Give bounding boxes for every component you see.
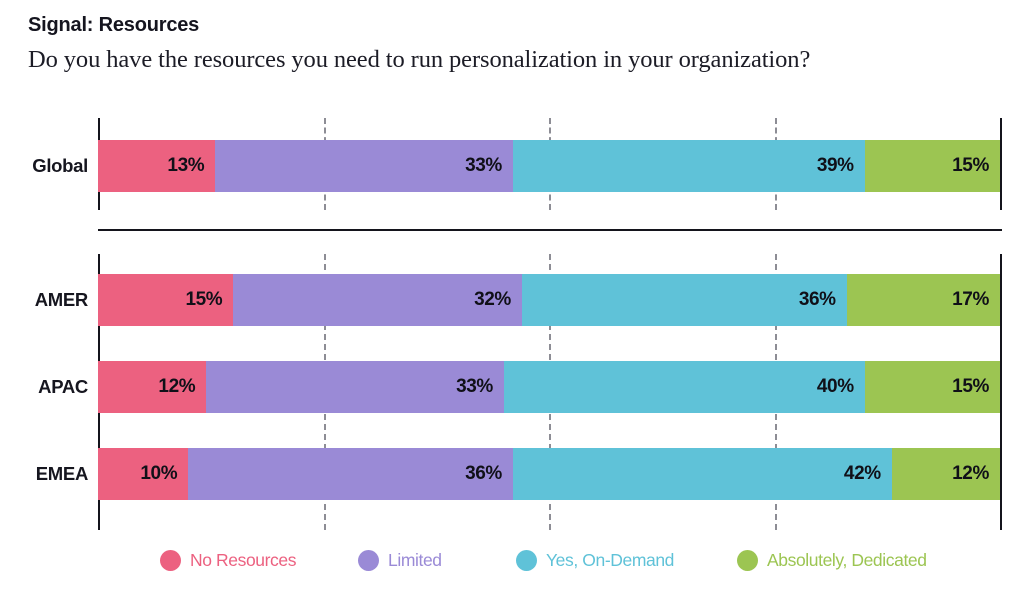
bar-value-label: 33% [465,155,502,177]
bar-segment[interactable]: 36% [522,274,847,326]
bar-row-apac: APAC12%33%40%15% [0,361,1024,413]
bar-segment[interactable]: 32% [233,274,522,326]
bar-value-label: 33% [456,376,493,398]
category-label-apac: APAC [0,376,88,398]
group-separator [98,229,1002,231]
bar-segment[interactable]: 10% [98,448,188,500]
bar-segment[interactable]: 42% [513,448,892,500]
legend-item[interactable]: Limited [358,550,442,571]
bar-value-label: 13% [167,155,204,177]
legend-label: Limited [388,550,442,571]
category-label-amer: AMER [0,289,88,311]
bar-segment[interactable]: 33% [215,140,513,192]
category-label-global: Global [0,155,88,177]
legend-label: Yes, On-Demand [546,550,674,571]
legend-item[interactable]: Yes, On-Demand [516,550,674,571]
legend-swatch-icon [516,550,537,571]
legend-swatch-icon [358,550,379,571]
bar-segment[interactable]: 33% [206,361,504,413]
bar-segment[interactable]: 40% [504,361,865,413]
bar-row-global: Global13%33%39%15% [0,140,1024,192]
legend-item[interactable]: No Resources [160,550,296,571]
stacked-bar-chart: Global13%33%39%15%AMER15%32%36%17%APAC12… [0,0,1024,595]
bar-value-label: 15% [952,155,989,177]
bar-value-label: 10% [140,463,177,485]
legend-item[interactable]: Absolutely, Dedicated [737,550,927,571]
bar-segment[interactable]: 15% [98,274,233,326]
bar-segment[interactable]: 13% [98,140,215,192]
bar-value-label: 32% [474,289,511,311]
bar-segment[interactable]: 36% [188,448,513,500]
bar-value-label: 36% [465,463,502,485]
stacked-bar: 12%33%40%15% [98,361,1000,413]
bar-value-label: 42% [844,463,881,485]
stacked-bar: 15%32%36%17% [98,274,1000,326]
bar-segment[interactable]: 15% [865,361,1000,413]
stacked-bar: 13%33%39%15% [98,140,1000,192]
legend-swatch-icon [737,550,758,571]
bar-segment[interactable]: 15% [865,140,1000,192]
bar-segment[interactable]: 39% [513,140,865,192]
bar-value-label: 12% [158,376,195,398]
legend-label: Absolutely, Dedicated [767,550,927,571]
stacked-bar: 10%36%42%12% [98,448,1000,500]
category-label-emea: EMEA [0,463,88,485]
bar-value-label: 39% [817,155,854,177]
chart-legend: No ResourcesLimitedYes, On-DemandAbsolut… [98,543,1002,577]
bar-segment[interactable]: 17% [847,274,1000,326]
legend-label: No Resources [190,550,296,571]
bar-value-label: 15% [952,376,989,398]
bar-value-label: 12% [952,463,989,485]
bar-value-label: 40% [817,376,854,398]
legend-swatch-icon [160,550,181,571]
bar-value-label: 17% [952,289,989,311]
bar-row-emea: EMEA10%36%42%12% [0,448,1024,500]
bar-segment[interactable]: 12% [892,448,1000,500]
bar-row-amer: AMER15%32%36%17% [0,274,1024,326]
bar-value-label: 36% [799,289,836,311]
bar-segment[interactable]: 12% [98,361,206,413]
bar-value-label: 15% [185,289,222,311]
